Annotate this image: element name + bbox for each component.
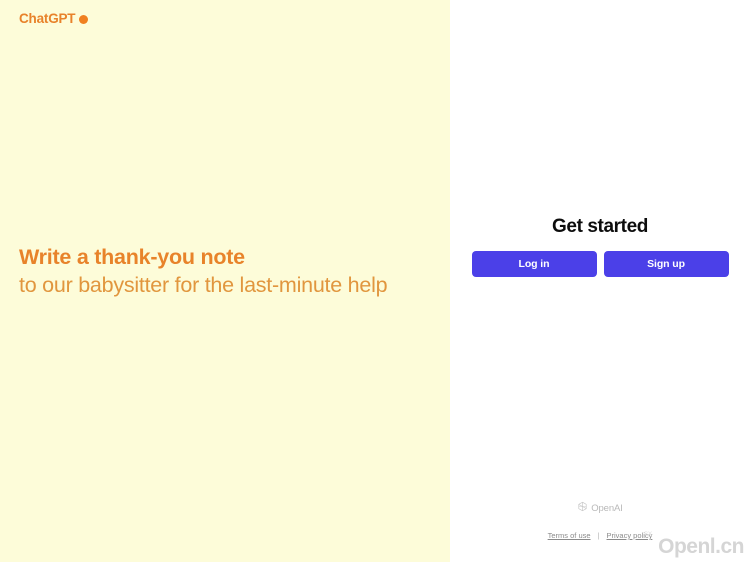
promo-headline: Write a thank-you note to our babysitter… bbox=[19, 243, 419, 299]
login-button[interactable]: Log in bbox=[472, 251, 597, 277]
footer-links: Terms of use | Privacy policy bbox=[548, 531, 653, 540]
auth-center-block: Get started Log in Sign up bbox=[450, 216, 750, 277]
get-started-heading: Get started bbox=[552, 216, 648, 238]
openai-wordmark-label: OpenAI bbox=[591, 503, 623, 514]
auth-button-group: Log in Sign up bbox=[472, 251, 729, 277]
watermark-small-text: SX bbox=[644, 532, 652, 538]
footer-separator: | bbox=[598, 531, 600, 540]
page-footer: OpenAI Terms of use | Privacy policy bbox=[450, 499, 750, 540]
terms-of-use-link[interactable]: Terms of use bbox=[548, 531, 591, 540]
signup-button[interactable]: Sign up bbox=[604, 251, 729, 277]
promo-headline-bold: Write a thank-you note bbox=[19, 243, 419, 271]
brand-name-label: ChatGPT bbox=[19, 11, 75, 26]
chatgpt-landing-page: ChatGPT Write a thank-you note to our ba… bbox=[0, 0, 750, 562]
openai-knot-icon bbox=[577, 499, 588, 517]
chatgpt-brand-logo[interactable]: ChatGPT bbox=[19, 11, 88, 26]
orange-dot-icon bbox=[79, 15, 88, 24]
promo-panel: ChatGPT Write a thank-you note to our ba… bbox=[0, 0, 450, 562]
openai-logo: OpenAI bbox=[577, 499, 623, 517]
auth-panel: Get started Log in Sign up OpenAI bbox=[450, 0, 750, 562]
promo-headline-rest: to our babysitter for the last-minute he… bbox=[19, 271, 419, 299]
